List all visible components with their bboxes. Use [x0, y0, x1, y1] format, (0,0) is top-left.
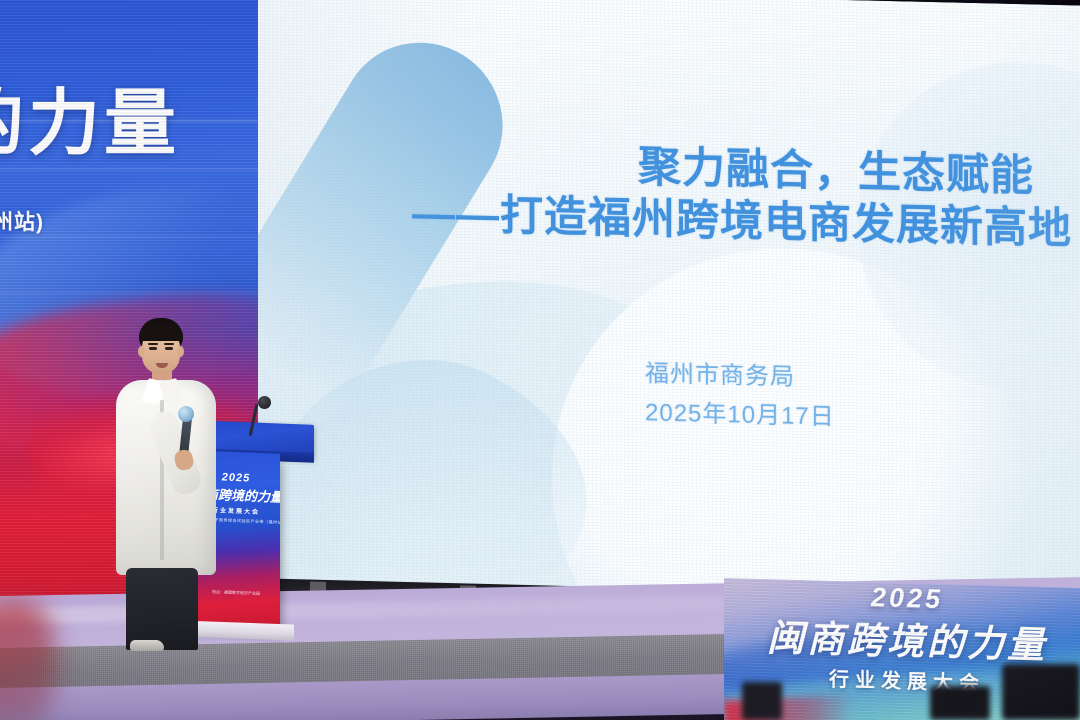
- banner-headline: 的力量: [0, 64, 180, 169]
- speaker-eyebrow-right: [164, 343, 174, 345]
- handheld-microphone-icon: [178, 406, 194, 422]
- speaker-figure: [108, 318, 228, 648]
- conference-stage-screenshot: 聚力融合，生态赋能 ——打造福州跨境电商发展新高地 福州市商务局 2025年10…: [0, 0, 1080, 720]
- speaker-hair-front: [139, 324, 183, 341]
- slide-title-block: 聚力融合，生态赋能 ——打造福州跨境电商发展新高地: [252, 134, 1080, 254]
- foreground-dark-object-mid: [930, 686, 990, 720]
- slide-text-layer: 聚力融合，生态赋能 ——打造福州跨境电商发展新高地 福州市商务局 2025年10…: [252, 0, 1080, 622]
- slide-subtitle-block: 福州市商务局 2025年10月17日: [645, 355, 835, 437]
- slide-organization: 福州市商务局: [645, 355, 835, 398]
- podium-mic-head-icon: [258, 396, 271, 409]
- speaker-trousers: [126, 568, 198, 650]
- speaker-eye-left: [149, 347, 157, 350]
- speaker-shoe: [130, 640, 164, 651]
- foreground-blur-left: [0, 600, 56, 720]
- slide-canvas: 聚力融合，生态赋能 ——打造福州跨境电商发展新高地 福州市商务局 2025年10…: [252, 0, 1080, 622]
- banner-subline: 福州站): [0, 206, 44, 236]
- foreground-dark-object-right: [1002, 664, 1080, 720]
- speaker-ear-left: [138, 346, 145, 357]
- main-led-screen: 聚力融合，生态赋能 ——打造福州跨境电商发展新高地 福州市商务局 2025年10…: [252, 0, 1080, 622]
- speaker-ear-right: [177, 346, 184, 357]
- foreground-dark-object-left: [742, 682, 782, 720]
- speaker-eyebrow-left: [148, 343, 158, 345]
- slide-date: 2025年10月17日: [645, 394, 835, 437]
- speaker-eye-right: [165, 347, 173, 350]
